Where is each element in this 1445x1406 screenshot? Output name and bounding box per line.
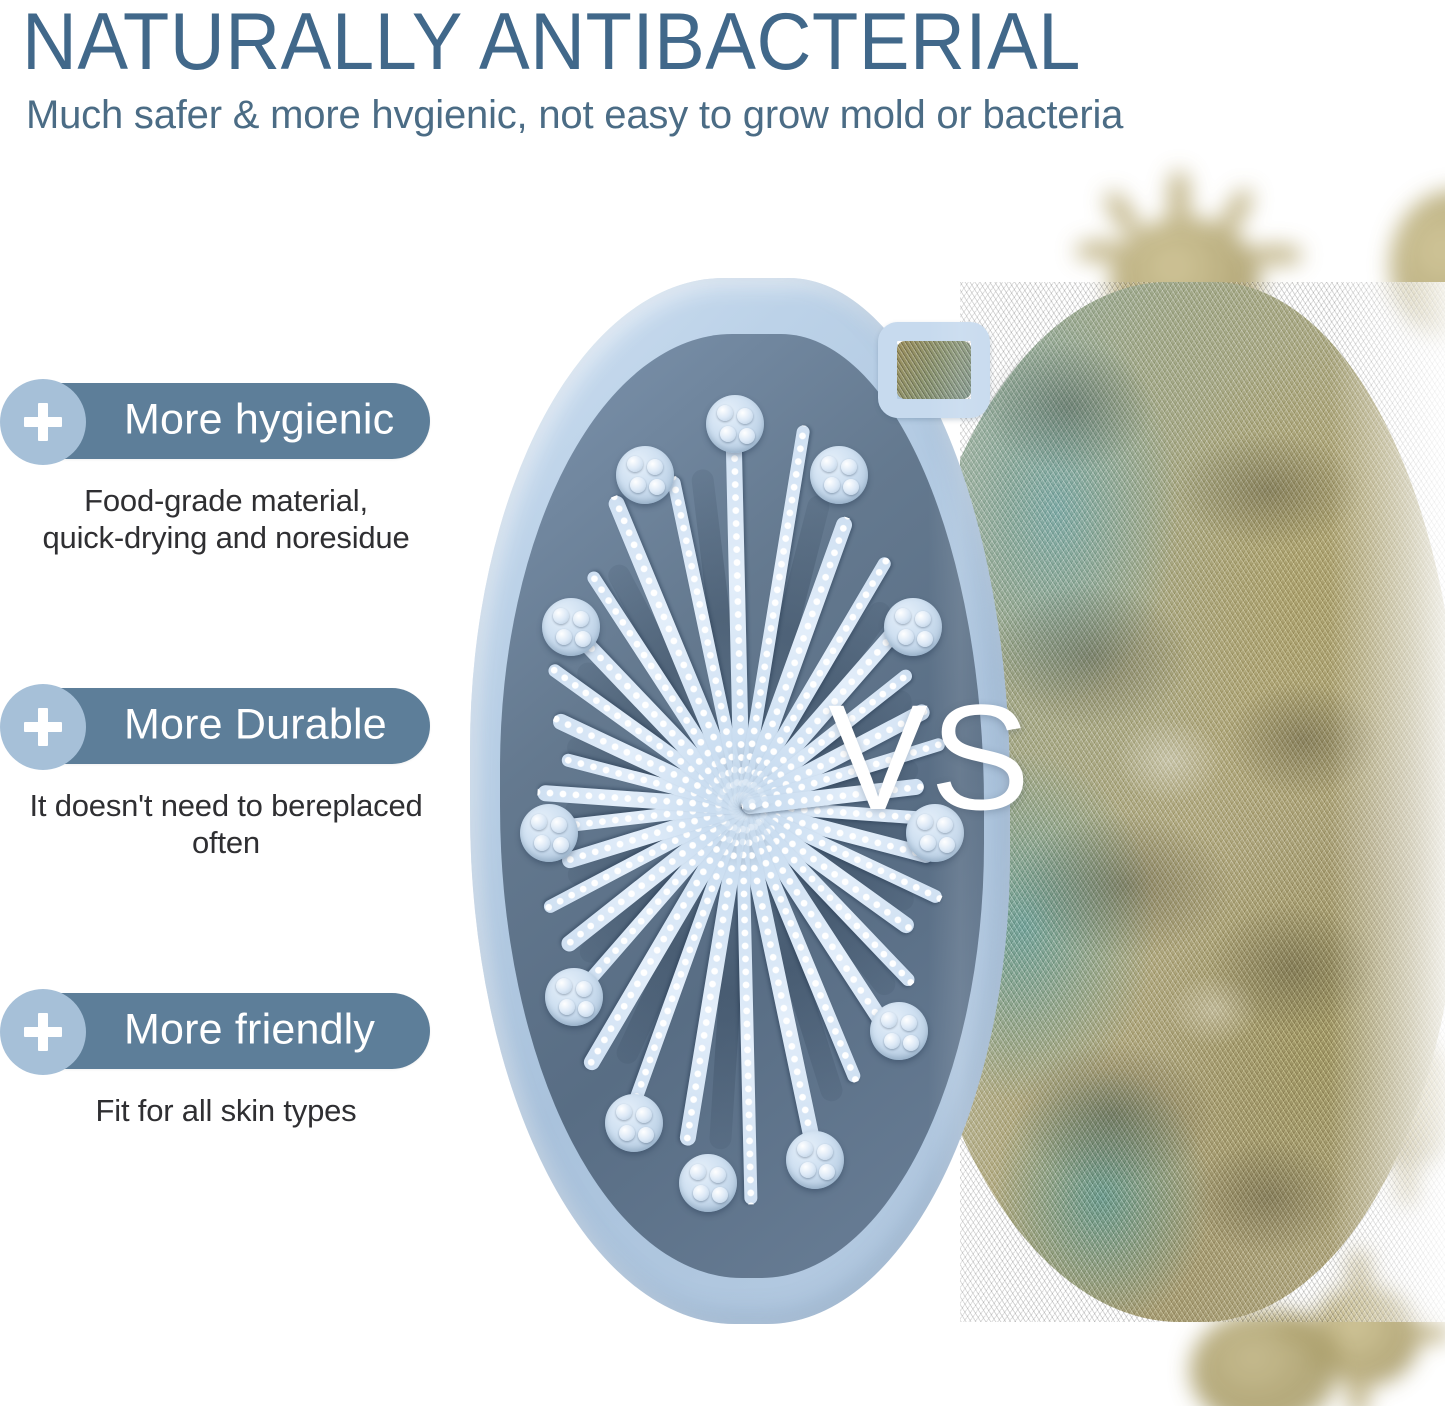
brush-suction-boss — [542, 598, 600, 656]
brush-suction-boss — [616, 446, 674, 504]
brush-suction-boss — [520, 804, 578, 862]
feature-pill-label-2: More Durable — [124, 701, 387, 750]
brush-suction-boss — [605, 1094, 663, 1152]
brush-suction-boss — [884, 598, 942, 656]
loofah-edge-fade — [960, 282, 1445, 1322]
brush-suction-boss — [706, 395, 764, 453]
plus-icon — [0, 684, 86, 770]
dirty-loofah — [960, 282, 1445, 1322]
feature-caption-3: Fit for all skin types — [0, 1093, 452, 1130]
page-subtitle: Much safer & more hvgienic, not easy to … — [26, 93, 1123, 138]
feature-pill-label-1: More hygienic — [124, 396, 394, 445]
feature-caption-2: It doesn't need to bereplacedoften — [0, 788, 452, 861]
plus-icon — [0, 379, 86, 465]
brush-suction-boss — [870, 1002, 928, 1060]
feature-caption-1: Food-grade material,quick-drying and nor… — [0, 483, 452, 556]
page-title: NATURALLY ANTIBACTERIAL — [22, 0, 1422, 88]
infographic-canvas: NATURALLY ANTIBACTERIAL Much safer & mor… — [0, 0, 1445, 1406]
feature-pill-label-3: More friendly — [124, 1006, 375, 1055]
vs-label: VS — [828, 682, 1032, 832]
plus-icon — [0, 989, 86, 1075]
brush-suction-boss — [545, 968, 603, 1026]
brush-suction-boss — [810, 446, 868, 504]
brush-suction-boss — [786, 1131, 844, 1189]
brush-suction-boss — [679, 1154, 737, 1212]
product-comparison-image: VS — [430, 250, 1445, 1406]
hanging-loop-window — [897, 341, 971, 399]
